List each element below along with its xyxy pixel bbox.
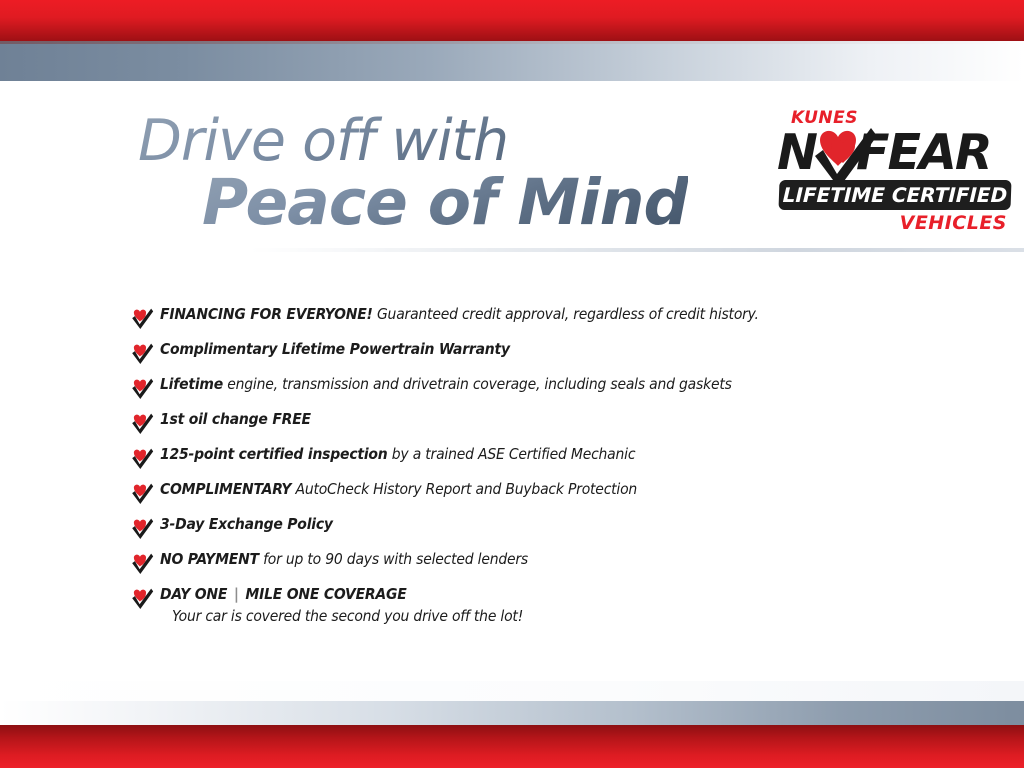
list-item-text: COMPLIMENTARY AutoCheck History Report a… <box>160 480 637 498</box>
list-item-text: 125-point certified inspection by a trai… <box>160 445 635 463</box>
list-item-text: Lifetime engine, transmission and drivet… <box>160 375 732 393</box>
list-item-emphasis: COMPLIMENTARY <box>160 480 291 498</box>
list-item-emphasis-2: MILE ONE COVERAGE <box>245 585 406 603</box>
list-item-emphasis: NO PAYMENT <box>160 550 259 568</box>
list-item: 3-Day Exchange Policy <box>130 515 960 539</box>
list-item: COMPLIMENTARY AutoCheck History Report a… <box>130 480 960 504</box>
page-title: Drive off with Peace of Mind <box>138 114 688 233</box>
top-red-band <box>0 0 1024 41</box>
list-item: NO PAYMENT for up to 90 days with select… <box>130 550 960 574</box>
top-gray-band <box>0 41 1024 81</box>
heart-check-icon <box>130 343 154 364</box>
heart-check-icon <box>130 483 154 504</box>
kunes-no-fear-logo: KUNES NFEAR LIFETIME CERTIFIED VEHICLES <box>775 108 1013 238</box>
heart-check-icon <box>130 413 154 434</box>
list-item-text: NO PAYMENT for up to 90 days with select… <box>160 550 528 568</box>
heart-check-icon <box>130 378 154 399</box>
list-item: Lifetime engine, transmission and drivet… <box>130 375 960 399</box>
heart-check-icon <box>130 448 154 469</box>
list-item-text: 1st oil change FREE <box>160 410 311 428</box>
list-item-emphasis: Complimentary Lifetime Powertrain Warran… <box>160 340 510 358</box>
heart-check-icon <box>130 343 154 364</box>
heart-check-icon <box>130 378 154 399</box>
list-item-subtext: Your car is covered the second you drive… <box>172 607 523 625</box>
heart-check-icon <box>130 553 154 574</box>
list-item-detail: AutoCheck History Report and Buyback Pro… <box>291 480 637 498</box>
list-item-emphasis: 1st oil change FREE <box>160 410 311 428</box>
list-item: 125-point certified inspection by a trai… <box>130 445 960 469</box>
list-item-detail: by a trained ASE Certified Mechanic <box>388 445 636 463</box>
list-item-detail: Guaranteed credit approval, regardless o… <box>373 305 759 323</box>
list-item-detail: engine, transmission and drivetrain cove… <box>223 375 732 393</box>
bottom-gray-band <box>0 701 1024 725</box>
headline-line-2: Peace of Mind <box>202 173 688 233</box>
header: Drive off with Peace of Mind KUNES NFEAR… <box>0 96 1024 261</box>
logo-lifetime-bar-textwrap: LIFETIME CERTIFIED <box>778 180 1011 210</box>
heart-check-icon <box>130 553 154 574</box>
list-item-text: Complimentary Lifetime Powertrain Warran… <box>160 340 510 358</box>
bottom-red-band <box>0 725 1024 768</box>
list-item-detail: for up to 90 days with selected lenders <box>259 550 528 568</box>
benefits-list: FINANCING FOR EVERYONE! Guaranteed credi… <box>130 305 960 637</box>
list-item-text: 3-Day Exchange Policy <box>160 515 333 533</box>
heart-check-icon <box>130 588 154 609</box>
heart-check-icon <box>130 588 154 609</box>
list-item: DAY ONE | MILE ONE COVERAGEYour car is c… <box>130 585 960 626</box>
heart-check-icon <box>130 308 154 329</box>
list-item-text: DAY ONE | MILE ONE COVERAGEYour car is c… <box>160 585 523 626</box>
list-item-emphasis: Lifetime <box>160 375 223 393</box>
list-item: FINANCING FOR EVERYONE! Guaranteed credi… <box>130 305 960 329</box>
list-item-emphasis: 3-Day Exchange Policy <box>160 515 333 533</box>
list-item-text: FINANCING FOR EVERYONE! Guaranteed credi… <box>160 305 759 323</box>
list-item-emphasis: DAY ONE <box>160 585 227 603</box>
list-item: 1st oil change FREE <box>130 410 960 434</box>
logo-nofear-text: NFEAR <box>777 128 991 177</box>
list-item: Complimentary Lifetime Powertrain Warran… <box>130 340 960 364</box>
heart-check-icon <box>130 518 154 539</box>
heart-check-icon <box>811 126 877 188</box>
list-item-emphasis: FINANCING FOR EVERYONE! <box>160 305 373 323</box>
heart-check-icon <box>130 413 154 434</box>
list-item-emphasis: 125-point certified inspection <box>160 445 388 463</box>
headline-line-1: Drive off with <box>138 114 688 169</box>
heart-check-icon <box>130 483 154 504</box>
list-item-separator: | <box>227 585 245 603</box>
heart-check-icon <box>130 518 154 539</box>
logo-lifetime-certified-text: LIFETIME CERTIFIED <box>778 180 1011 210</box>
bottom-white-band <box>0 681 1024 701</box>
header-divider <box>250 248 1024 252</box>
heart-check-icon <box>130 448 154 469</box>
logo-vehicles-text: VEHICLES <box>900 212 1007 234</box>
heart-check-icon <box>130 308 154 329</box>
